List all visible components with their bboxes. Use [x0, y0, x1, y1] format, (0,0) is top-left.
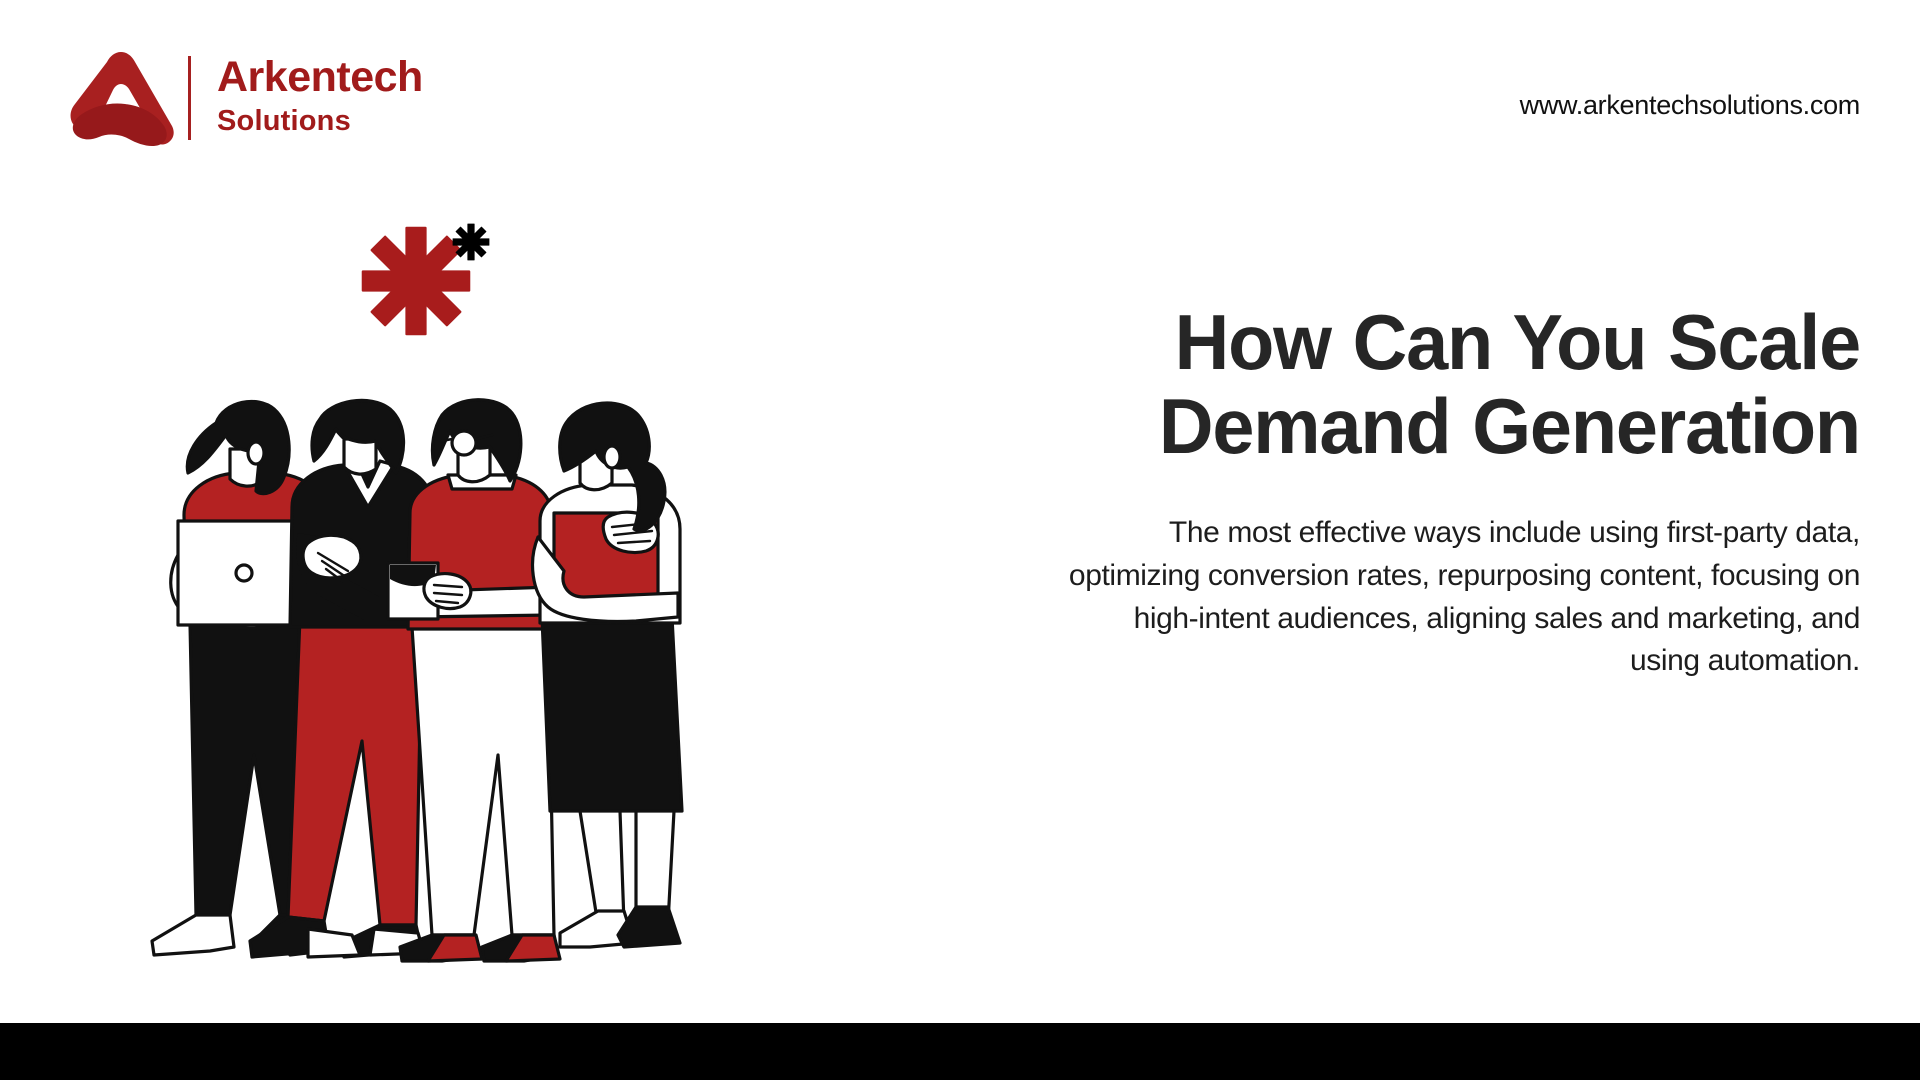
body-paragraph: The most effective ways include using fi… — [1060, 512, 1860, 682]
text-column: How Can You Scale Demand Generation The … — [1060, 300, 1860, 683]
business-team-illustration — [112, 395, 752, 995]
brand-lockup[interactable]: Arkentech Solutions — [62, 48, 423, 148]
page-title: How Can You Scale Demand Generation — [1084, 300, 1860, 468]
slide-canvas: Arkentech Solutions www.arkentechsolutio… — [0, 0, 1920, 1080]
asterisk-icon-small — [451, 222, 491, 262]
brand-divider — [188, 56, 191, 140]
headline-line-2: Demand Generation — [1159, 382, 1860, 470]
brand-subtitle: Solutions — [217, 103, 423, 139]
website-url[interactable]: www.arkentechsolutions.com — [1520, 90, 1860, 121]
brand-name: Arkentech — [217, 56, 423, 99]
brand-text: Arkentech Solutions — [217, 56, 423, 139]
footer-bar — [0, 1023, 1920, 1080]
arkentech-a-mark-icon — [62, 48, 180, 148]
person-four — [533, 403, 682, 947]
headline-line-1: How Can You Scale — [1175, 298, 1860, 386]
